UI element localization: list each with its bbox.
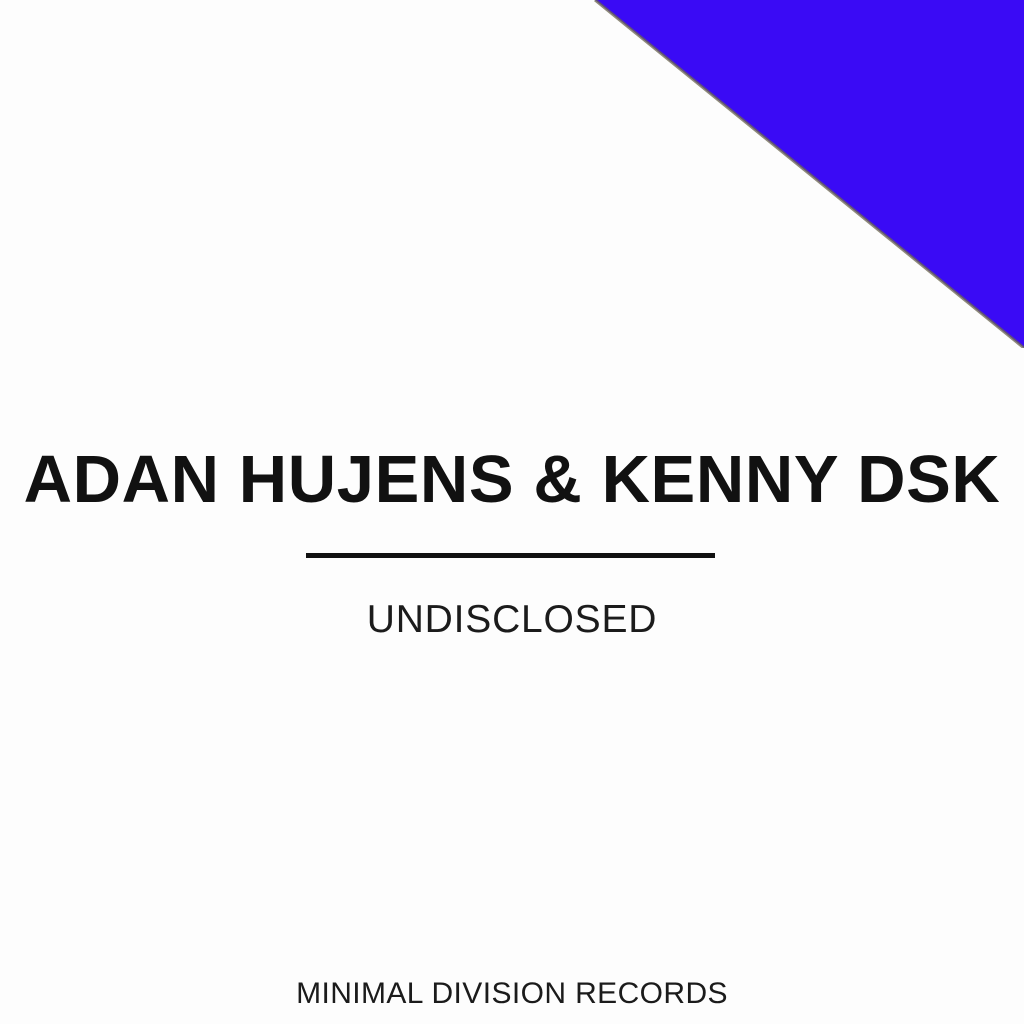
corner-triangle-icon (584, 0, 1024, 348)
artist-name: ADAN HUJENS & KENNY DSK (0, 446, 1024, 513)
album-cover: ADAN HUJENS & KENNY DSK UNDISCLOSED MINI… (0, 0, 1024, 1024)
release-title: UNDISCLOSED (0, 600, 1024, 639)
blue-corner-triangle (584, 0, 1024, 348)
record-label-name: MINIMAL DIVISION RECORDS (0, 979, 1024, 1009)
divider-rule (306, 553, 715, 558)
